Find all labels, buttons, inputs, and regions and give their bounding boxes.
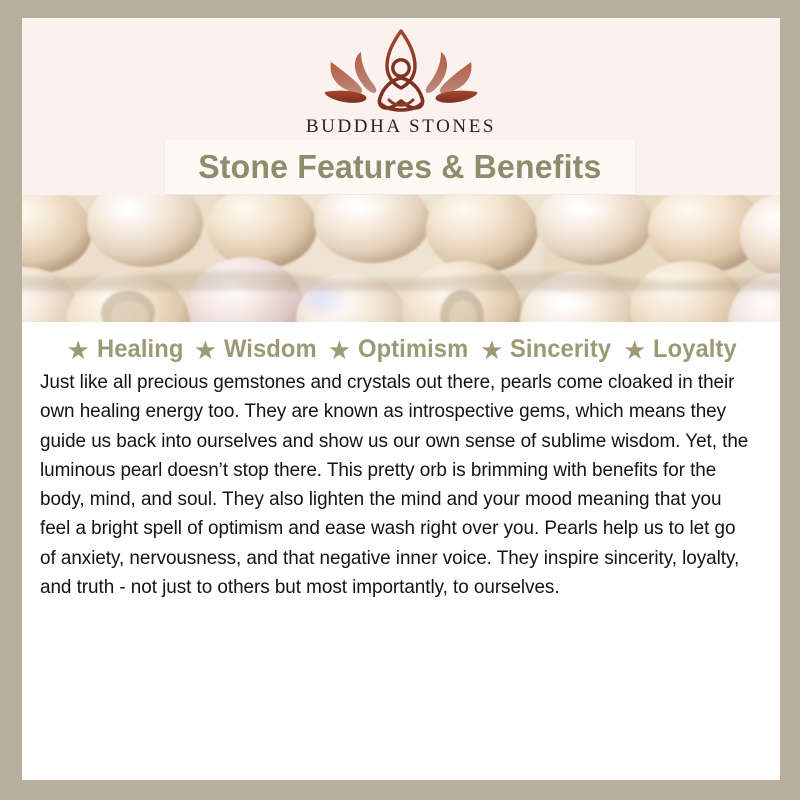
feature-optimism: ★ Optimism: [322, 335, 474, 364]
stone-benefits-infographic: BUDDHA STONES Stone Features & Benefits: [0, 0, 800, 800]
feature-label: Loyalty: [653, 335, 737, 364]
content-card: ★ Healing ★ Wisdom ★ Optimism ★ Sincerit…: [22, 322, 780, 780]
star-icon: ★: [328, 337, 351, 363]
page-title: Stone Features & Benefits: [198, 148, 601, 186]
feature-label: Sincerity: [510, 335, 611, 364]
feature-loyalty: ★ Loyalty: [617, 335, 742, 364]
feature-label: Optimism: [358, 335, 468, 364]
brand-logo-block: BUDDHA STONES: [22, 18, 780, 158]
star-icon: ★: [623, 337, 646, 363]
feature-healing: ★ Healing: [60, 335, 187, 364]
feature-sincerity: ★ Sincerity: [474, 335, 617, 364]
title-banner: Stone Features & Benefits: [165, 140, 635, 194]
description-paragraph: Just like all precious gemstones and cry…: [40, 368, 751, 602]
brand-wordmark: BUDDHA STONES: [306, 116, 496, 138]
lotus-meditation-figure-icon: [317, 28, 485, 114]
feature-label: Healing: [97, 335, 183, 364]
page-body: BUDDHA STONES Stone Features & Benefits: [22, 18, 780, 780]
features-row: ★ Healing ★ Wisdom ★ Optimism ★ Sincerit…: [22, 322, 780, 366]
star-icon: ★: [66, 337, 89, 363]
star-icon: ★: [194, 337, 217, 363]
feature-label: Wisdom: [224, 335, 317, 364]
feature-wisdom: ★ Wisdom: [188, 335, 322, 364]
star-icon: ★: [480, 337, 503, 363]
